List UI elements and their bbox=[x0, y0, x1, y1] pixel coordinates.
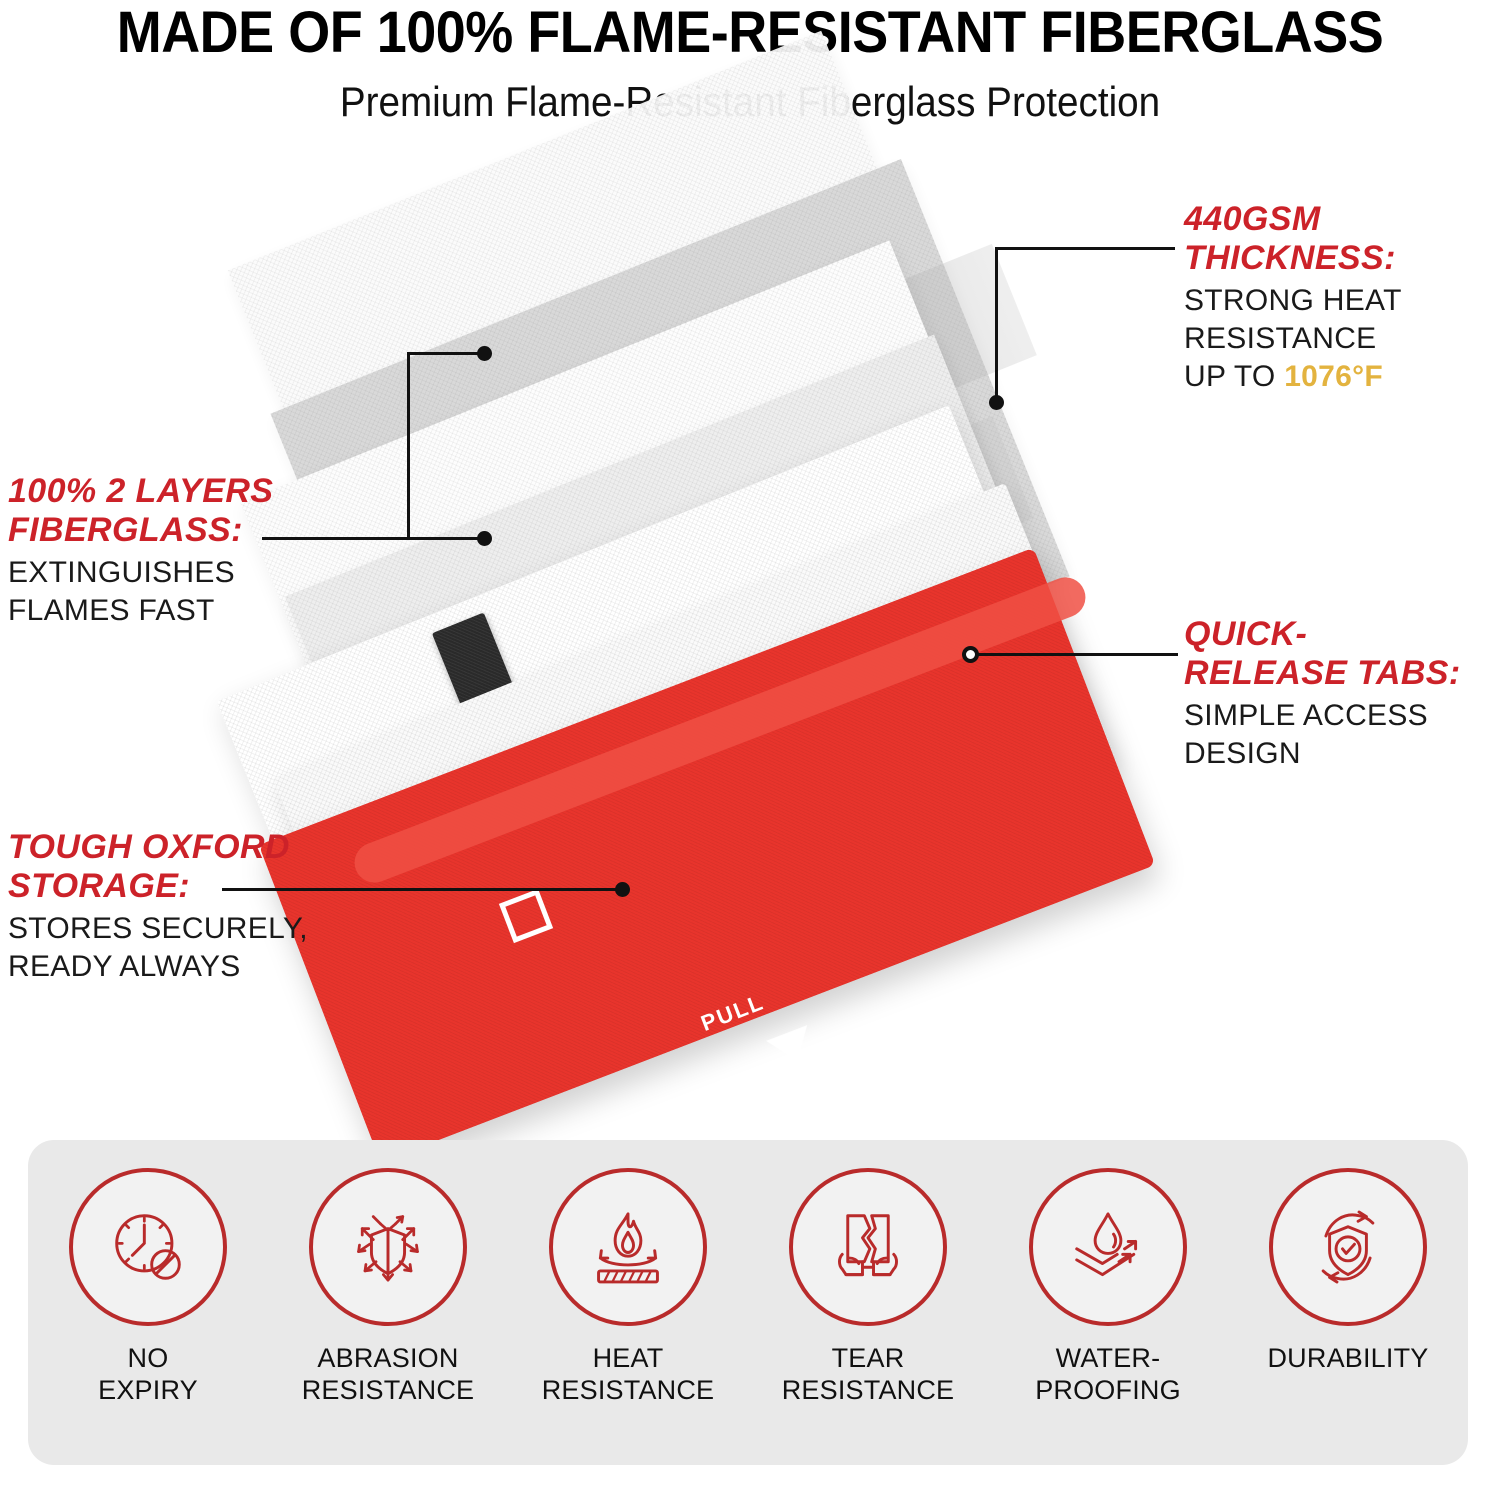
feature-label-line: EXPIRY bbox=[98, 1374, 198, 1406]
feature-label-line: ABRASION bbox=[302, 1342, 475, 1374]
shield-arrows-abrasion-icon bbox=[309, 1168, 467, 1326]
leader-dot-gsm bbox=[989, 395, 1004, 410]
callout-title-line: STORAGE: bbox=[8, 867, 348, 906]
callout-tough-oxford-storage: TOUGH OXFORD STORAGE: STORES SECURELY, R… bbox=[8, 828, 348, 986]
callout-title: TOUGH OXFORD STORAGE: bbox=[8, 828, 348, 906]
feature-label-line: RESISTANCE bbox=[302, 1374, 475, 1406]
feature-label-line: DURABILITY bbox=[1267, 1342, 1428, 1374]
leader-line-layers bbox=[407, 537, 485, 540]
callout-title: 440GSM THICKNESS: bbox=[1184, 200, 1494, 278]
clock-no-expiry-icon bbox=[69, 1168, 227, 1326]
callout-two-layers-fiberglass: 100% 2 LAYERS FIBERGLASS: EXTINGUISHES F… bbox=[8, 472, 328, 630]
callout-title-line: FIBERGLASS: bbox=[8, 511, 328, 550]
water-droplet-repel-icon bbox=[1029, 1168, 1187, 1326]
feature-item-abrasion-resistance: ABRASION RESISTANCE bbox=[281, 1168, 496, 1406]
callout-body-line: EXTINGUISHES bbox=[8, 554, 328, 592]
feature-label: NO EXPIRY bbox=[98, 1342, 198, 1406]
callout-title-line: QUICK- bbox=[1184, 615, 1494, 654]
callout-title-line: 100% 2 LAYERS bbox=[8, 472, 328, 511]
page-title: MADE OF 100% FLAME-RESISTANT FIBERGLASS bbox=[53, 2, 1448, 64]
callout-body: EXTINGUISHES FLAMES FAST bbox=[8, 554, 328, 630]
feature-label-line: TEAR bbox=[782, 1342, 955, 1374]
leader-dot-layer-one bbox=[477, 346, 492, 361]
callout-body: SIMPLE ACCESS DESIGN bbox=[1184, 697, 1494, 773]
leader-line-layers bbox=[407, 352, 485, 355]
callout-body: STORES SECURELY, READY ALWAYS bbox=[8, 910, 348, 986]
callout-body-line: DESIGN bbox=[1184, 735, 1494, 773]
callout-body-line: FLAMES FAST bbox=[8, 592, 328, 630]
temperature-value: 1076°F bbox=[1284, 360, 1383, 393]
leader-dot-tabs bbox=[962, 646, 979, 663]
feature-label: DURABILITY bbox=[1267, 1342, 1428, 1374]
feature-item-tear-resistance: TEAR RESISTANCE bbox=[761, 1168, 976, 1406]
callout-title: 100% 2 LAYERS FIBERGLASS: bbox=[8, 472, 328, 550]
feature-item-waterproofing: WATER- PROOFING bbox=[1001, 1168, 1216, 1406]
feature-label-line: PROOFING bbox=[1035, 1374, 1181, 1406]
callout-body-line: STORES SECURELY, bbox=[8, 910, 348, 948]
infographic-root: MADE OF 100% FLAME-RESISTANT FIBERGLASS … bbox=[0, 0, 1500, 1487]
shield-check-cycle-icon bbox=[1269, 1168, 1427, 1326]
leader-dot-oxford bbox=[615, 882, 630, 897]
callout-title-line: TOUGH OXFORD bbox=[8, 828, 348, 867]
callout-body-line: STRONG HEAT bbox=[1184, 282, 1494, 320]
feature-item-heat-resistance: HEAT RESISTANCE bbox=[521, 1168, 736, 1406]
callout-title-line: RELEASE TABS: bbox=[1184, 654, 1494, 693]
feature-label-line: WATER- bbox=[1035, 1342, 1181, 1374]
leader-line-tabs bbox=[968, 653, 1178, 656]
leader-line-layers bbox=[407, 352, 410, 540]
feature-label: TEAR RESISTANCE bbox=[782, 1342, 955, 1406]
callout-title: QUICK- RELEASE TABS: bbox=[1184, 615, 1494, 693]
callout-body: STRONG HEAT RESISTANCE UP TO 1076°F bbox=[1184, 282, 1494, 396]
callout-body-line: READY ALWAYS bbox=[8, 948, 348, 986]
leader-line-gsm bbox=[995, 247, 998, 399]
tear-hands-icon bbox=[789, 1168, 947, 1326]
callout-body-line: SIMPLE ACCESS bbox=[1184, 697, 1494, 735]
feature-label: HEAT RESISTANCE bbox=[542, 1342, 715, 1406]
feature-item-durability: DURABILITY bbox=[1241, 1168, 1456, 1374]
flame-heat-icon bbox=[549, 1168, 707, 1326]
callout-gsm-thickness: 440GSM THICKNESS: STRONG HEAT RESISTANCE… bbox=[1184, 200, 1494, 396]
feature-item-no-expiry: NO EXPIRY bbox=[41, 1168, 256, 1406]
feature-list: NO EXPIRY bbox=[28, 1140, 1468, 1465]
feature-label-line: NO bbox=[98, 1342, 198, 1374]
leader-dot-layer-two bbox=[477, 531, 492, 546]
feature-label-line: RESISTANCE bbox=[542, 1374, 715, 1406]
feature-label: ABRASION RESISTANCE bbox=[302, 1342, 475, 1406]
callout-body-line: RESISTANCE bbox=[1184, 320, 1494, 358]
feature-label-line: RESISTANCE bbox=[782, 1374, 955, 1406]
callout-body-line: UP TO 1076°F bbox=[1184, 358, 1494, 396]
feature-label-line: HEAT bbox=[542, 1342, 715, 1374]
feature-label: WATER- PROOFING bbox=[1035, 1342, 1181, 1406]
leader-line-gsm bbox=[995, 247, 1175, 250]
callout-body-prefix: UP TO bbox=[1184, 360, 1284, 393]
callout-quick-release-tabs: QUICK- RELEASE TABS: SIMPLE ACCESS DESIG… bbox=[1184, 615, 1494, 773]
pull-arrow-icon bbox=[766, 1025, 818, 1069]
